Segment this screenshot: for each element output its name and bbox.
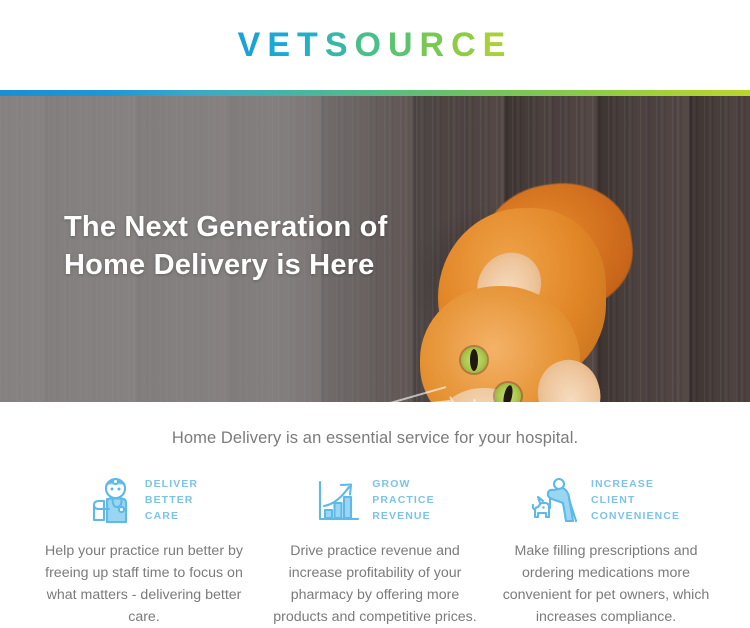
- hero-banner: The Next Generation of Home Delivery is …: [0, 90, 750, 402]
- vetsource-logo[interactable]: V E T S O U R C E: [238, 28, 513, 62]
- logo-letter: V: [238, 28, 268, 62]
- lead-statement: Home Delivery is an essential service fo…: [0, 402, 750, 448]
- gradient-accent-bar: [0, 90, 750, 96]
- feature-header: GROW PRACTICE REVENUE: [266, 472, 485, 530]
- feature-grow-practice-revenue: GROW PRACTICE REVENUE Drive practice rev…: [260, 472, 491, 628]
- logo-letter: U: [388, 28, 420, 62]
- feature-description: Make filling prescriptions and ordering …: [497, 540, 716, 628]
- growth-chart-icon: [315, 478, 361, 524]
- hero-copy: The Next Generation of Home Delivery is …: [64, 208, 387, 285]
- cat-eye-left: [461, 347, 487, 373]
- feature-header: INCREASE CLIENT CONVENIENCE: [497, 472, 716, 530]
- logo-letter: C: [451, 28, 483, 62]
- logo-letter: E: [483, 28, 513, 62]
- feature-header: DELIVER BETTER CARE: [35, 472, 254, 530]
- feature-label: DELIVER BETTER CARE: [145, 477, 198, 524]
- person-walking-dog-icon: [532, 477, 580, 525]
- feature-label: GROW PRACTICE REVENUE: [372, 477, 434, 524]
- logo-letter: T: [297, 28, 325, 62]
- feature-columns: DELIVER BETTER CARE Help your practice r…: [0, 448, 750, 628]
- logo-letter: O: [355, 28, 388, 62]
- logo-letter: E: [267, 28, 297, 62]
- feature-deliver-better-care: DELIVER BETTER CARE Help your practice r…: [29, 472, 260, 628]
- cat-photo-subject: [398, 190, 648, 402]
- feature-description: Drive practice revenue and increase prof…: [266, 540, 485, 628]
- logo-letter: S: [325, 28, 355, 62]
- logo-letter: R: [420, 28, 452, 62]
- veterinarian-icon: [90, 476, 134, 526]
- hero-headline: The Next Generation of Home Delivery is …: [64, 208, 387, 285]
- feature-description: Help your practice run better by freeing…: [35, 540, 254, 628]
- feature-label: INCREASE CLIENT CONVENIENCE: [591, 477, 680, 524]
- page-header: V E T S O U R C E: [0, 0, 750, 90]
- feature-increase-client-convenience: INCREASE CLIENT CONVENIENCE Make filling…: [491, 472, 722, 628]
